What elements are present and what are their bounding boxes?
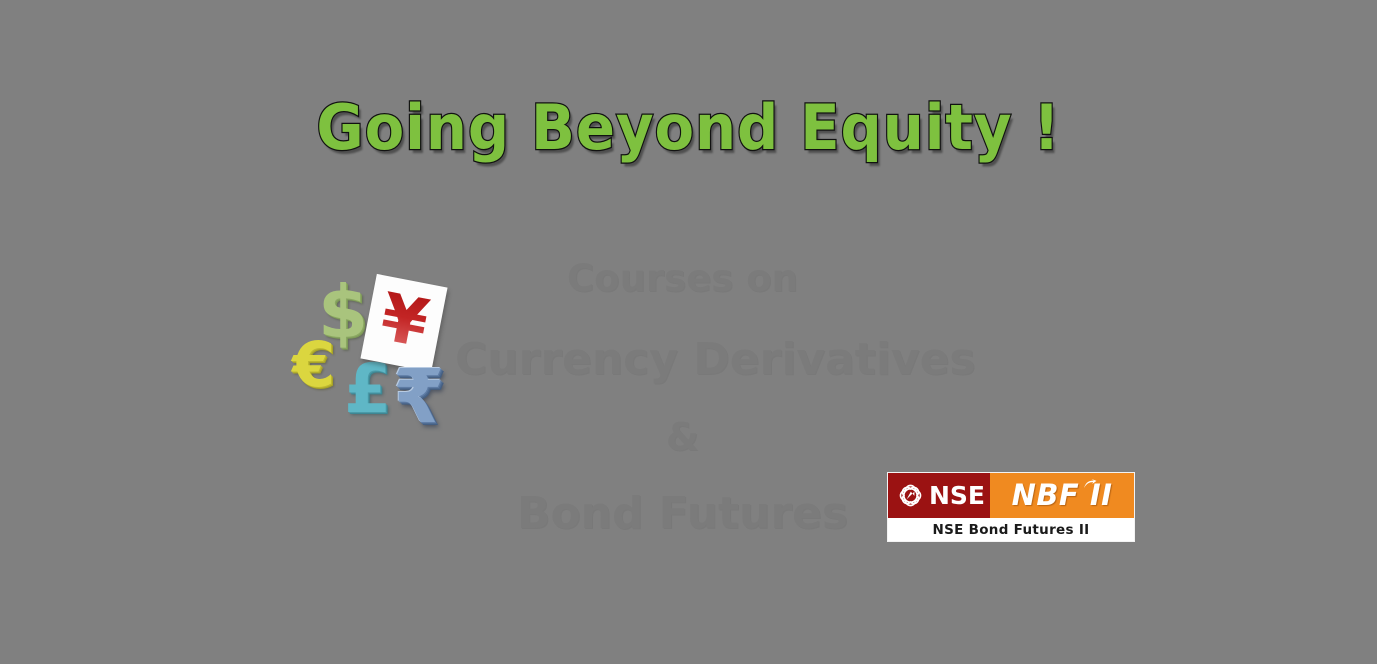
body-line-bond-futures: Bond Futures [455, 477, 910, 551]
body-line-currency-derivatives: Currency Derivatives [455, 322, 910, 397]
logo-bar: NSE NBF II [888, 473, 1134, 518]
rupee-icon: ₹ [393, 360, 445, 434]
body-line-ampersand: & [455, 401, 910, 473]
yen-icon: ¥ [376, 284, 434, 358]
logo-caption-text: NSE Bond Futures II [932, 523, 1089, 537]
body-line-courses-on: Courses on [455, 248, 910, 310]
slide-canvas: Going Beyond Equity ! $ € £ ¥ ₹ Courses … [0, 0, 1377, 664]
logo-caption: NSE Bond Futures II [888, 518, 1134, 541]
logo-product-block: NBF II [990, 473, 1134, 518]
euro-icon: € [292, 334, 335, 396]
arrow-icon [1083, 479, 1097, 490]
nse-emblem-icon [898, 483, 923, 508]
logo-brand-block: NSE [888, 473, 990, 518]
nbf2-product-text: NBF II [1012, 481, 1113, 510]
page-title: Going Beyond Equity ! [48, 92, 1329, 164]
body-text-block: Courses on Currency Derivatives & Bond F… [455, 248, 910, 551]
nse-brand-text: NSE [929, 483, 985, 508]
pound-icon: £ [344, 356, 391, 424]
nse-nbf2-logo: NSE NBF II NSE Bond Futures II [888, 473, 1134, 541]
currency-symbols-cluster: $ € £ ¥ ₹ [290, 268, 475, 453]
